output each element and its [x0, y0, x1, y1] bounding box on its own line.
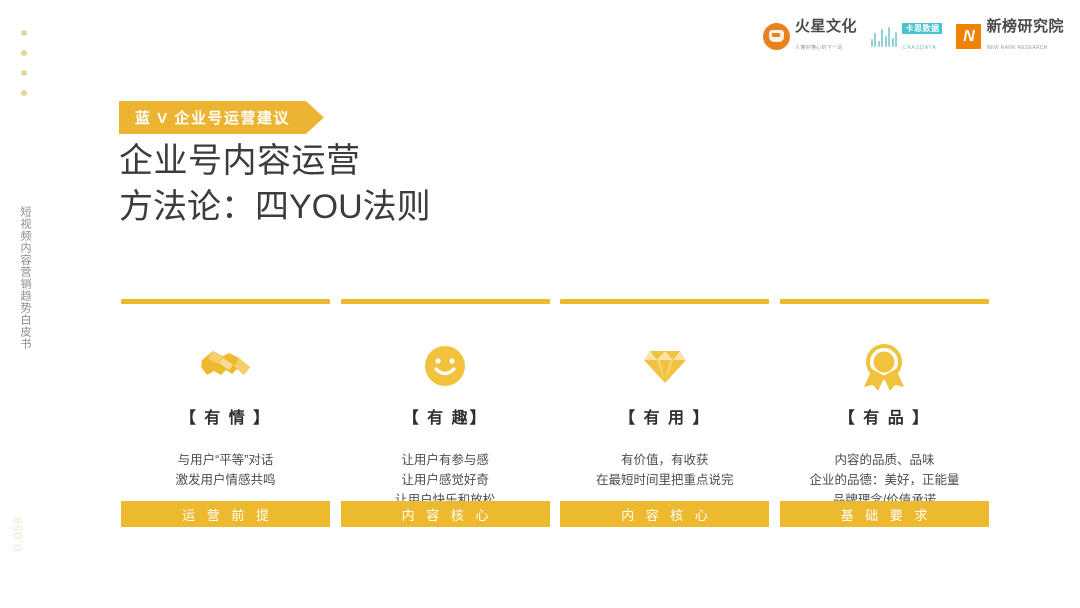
- card-footer-label: 内 容 核 心: [398, 505, 493, 524]
- card-heading: 【 有 品 】: [839, 404, 930, 428]
- newrank-mark-icon: N: [956, 24, 981, 49]
- principle-card: 【 有 用 】 有价值，有收获 在最短时间里把重点说完: [560, 299, 769, 510]
- slide-canvas: 短视频内容营销趋势白皮书 0.058 火星文化 人懂好懂心的下一站 卡思数据 C…: [0, 0, 1080, 608]
- handshake-icon: [199, 338, 253, 394]
- page-title-line-1: 企业号内容运营: [119, 138, 431, 184]
- decorative-dot: [21, 70, 27, 76]
- card-top-rule: [780, 299, 989, 304]
- card-description: 与用户“平等”对话 激发用户情感共鸣: [175, 450, 275, 490]
- card-description-line: 激发用户情感共鸣: [175, 470, 275, 490]
- principle-card: 【 有 品 】 内容的品质、品味 企业的品德：美好，正能量 品牌理念/价值承诺: [780, 299, 989, 510]
- card-footer-chip: 运 营 前 提: [121, 501, 330, 527]
- logo-bar: 火星文化 人懂好懂心的下一站 卡思数据 CAASDATA N 新榜研究院 NEW…: [763, 18, 1064, 54]
- decorative-dot-column: [18, 30, 30, 96]
- card-footer-chip: 基 础 要 求: [780, 501, 989, 527]
- card-description-line: 与用户“平等”对话: [175, 450, 275, 470]
- huoxing-logo-name: 火星文化: [795, 18, 857, 35]
- card-description-line: 让用户感觉好奇: [395, 470, 495, 490]
- decorative-dot: [21, 30, 27, 36]
- card-top-rule: [560, 299, 769, 304]
- huoxing-wenhua-logo: 火星文化 人懂好懂心的下一站: [763, 18, 857, 54]
- newrank-logo-name: 新榜研究院: [986, 18, 1064, 35]
- vertical-document-title: 短视频内容营销趋势白皮书: [14, 206, 32, 350]
- caasdata-logo-latin: CAASDATA: [902, 45, 936, 51]
- newrank-research-logo: N 新榜研究院 NEW RANK RESEARCH: [956, 18, 1064, 54]
- page-number: 0.058: [11, 516, 25, 551]
- card-description: 有价值，有收获 在最短时间里把重点说完: [596, 450, 734, 490]
- principle-card: 【 有 趣】 让用户有参与感 让用户感觉好奇 让用户快乐和放松: [341, 299, 550, 510]
- medal-ribbon-icon: [861, 338, 907, 394]
- huoxing-logo-tagline: 人懂好懂心的下一站: [795, 45, 843, 51]
- card-footer-label: 运 营 前 提: [178, 505, 273, 524]
- card-footer-label: 内 容 核 心: [617, 505, 712, 524]
- card-heading: 【 有 趣】: [403, 404, 488, 428]
- card-heading: 【 有 情 】: [180, 404, 271, 428]
- card-heading: 【 有 用 】: [619, 404, 710, 428]
- caasdata-bars-icon: [871, 25, 898, 47]
- card-description-line: 内容的品质、品味: [809, 450, 959, 470]
- section-banner: 蓝 V 企业号运营建议: [119, 101, 324, 134]
- principles-card-row: 【 有 情 】 与用户“平等”对话 激发用户情感共鸣 【 有 趣】 让用户有参与…: [121, 299, 989, 510]
- decorative-dot: [21, 90, 27, 96]
- decorative-dot: [21, 50, 27, 56]
- card-top-rule: [341, 299, 550, 304]
- section-banner-label: 蓝 V 企业号运营建议: [135, 107, 290, 128]
- page-title-line-2: 方法论：四YOU法则: [119, 184, 431, 230]
- page-title: 企业号内容运营 方法论：四YOU法则: [119, 138, 431, 230]
- card-footer-chip: 内 容 核 心: [560, 501, 769, 527]
- newrank-logo-latin: NEW RANK RESEARCH: [986, 45, 1047, 51]
- card-footer-chip: 内 容 核 心: [341, 501, 550, 527]
- caasdata-logo: 卡思数据 CAASDATA: [871, 18, 943, 54]
- diamond-icon: [642, 338, 688, 394]
- smiley-face-icon: [423, 338, 467, 394]
- card-footer-label: 基 础 要 求: [837, 505, 932, 524]
- card-top-rule: [121, 299, 330, 304]
- card-description-line: 在最短时间里把重点说完: [596, 470, 734, 490]
- caasdata-logo-name: 卡思数据: [902, 23, 942, 34]
- card-description-line: 企业的品德：美好，正能量: [809, 470, 959, 490]
- huoxing-mark-icon: [763, 23, 790, 50]
- card-description-line: 有价值，有收获: [596, 450, 734, 470]
- principle-card: 【 有 情 】 与用户“平等”对话 激发用户情感共鸣: [121, 299, 330, 510]
- card-description-line: 让用户有参与感: [395, 450, 495, 470]
